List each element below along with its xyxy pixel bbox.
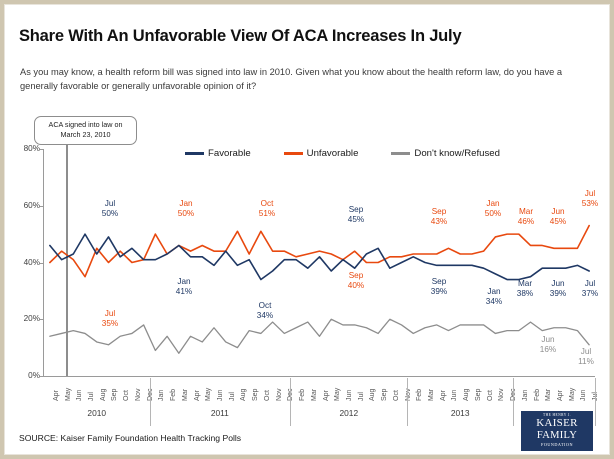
data-label-value: 51% bbox=[259, 209, 275, 219]
series-line-favorable bbox=[50, 234, 589, 279]
data-label: Sep40% bbox=[348, 271, 364, 291]
x-tick-label: Aug bbox=[369, 389, 376, 401]
data-label-month: Jul bbox=[582, 189, 598, 199]
data-label-value: 50% bbox=[178, 209, 194, 219]
data-label: Oct51% bbox=[259, 199, 275, 219]
x-tick-label: Nov bbox=[276, 389, 283, 401]
data-label-month: Jul bbox=[582, 279, 598, 289]
y-axis-labels: 0%20%40%60%80% bbox=[6, 149, 40, 376]
logo-line-3: FAMILY bbox=[521, 430, 593, 441]
series-line-unfavorable bbox=[50, 226, 589, 277]
x-tick-label: Apr bbox=[194, 390, 201, 401]
data-label: Jul53% bbox=[582, 189, 598, 209]
logo-line-2: KAISER bbox=[521, 418, 593, 430]
y-tick-label: 80% bbox=[6, 144, 40, 153]
data-label-month: Mar bbox=[517, 279, 533, 289]
data-label: Sep39% bbox=[431, 277, 447, 297]
x-tick-label: Sep bbox=[111, 389, 118, 401]
x-tick-label: Jul bbox=[358, 392, 365, 401]
data-label: Jul35% bbox=[102, 309, 118, 329]
x-tick-label: Jan bbox=[522, 390, 529, 401]
x-tick-label: May bbox=[205, 388, 212, 401]
y-tick-mark bbox=[40, 376, 44, 377]
source-note: SOURCE: Kaiser Family Foundation Health … bbox=[19, 433, 241, 443]
page-title: Share With An Unfavorable View Of ACA In… bbox=[19, 27, 461, 46]
series-line-don-t-know-refused bbox=[50, 319, 589, 353]
x-tick-label: Feb bbox=[416, 389, 423, 401]
logo-line-4: FOUNDATION bbox=[521, 441, 593, 448]
x-tick-label: Sep bbox=[381, 389, 388, 401]
x-tick-label: Jun bbox=[346, 390, 353, 401]
year-separator bbox=[407, 378, 408, 426]
x-tick-label: Jul bbox=[88, 392, 95, 401]
x-tick-label: Nov bbox=[135, 389, 142, 401]
data-label-value: 43% bbox=[431, 217, 447, 227]
callout-line-1: ACA signed into law bbox=[49, 120, 113, 129]
data-label: Jan41% bbox=[176, 277, 192, 297]
x-tick-label: Oct bbox=[487, 390, 494, 401]
data-label-month: Sep bbox=[431, 277, 447, 287]
chart-page: Share With An Unfavorable View Of ACA In… bbox=[4, 4, 610, 455]
chart-plot-area: 0%20%40%60%80% ACA signed into law on Ma… bbox=[44, 149, 595, 376]
x-tick-label: Jun bbox=[217, 390, 224, 401]
data-label-value: 45% bbox=[550, 217, 566, 227]
x-tick-label: May bbox=[65, 388, 72, 401]
x-tick-label: Jul bbox=[229, 392, 236, 401]
x-tick-label: May bbox=[334, 388, 341, 401]
series-lines bbox=[44, 149, 595, 376]
data-label: Jan50% bbox=[178, 199, 194, 219]
x-tick-label: Mar bbox=[182, 389, 189, 401]
x-tick-label: Jun bbox=[580, 390, 587, 401]
x-tick-label: Feb bbox=[170, 389, 177, 401]
y-tick-label: 40% bbox=[6, 258, 40, 267]
data-label-value: 35% bbox=[102, 319, 118, 329]
x-tick-label: Apr bbox=[557, 390, 564, 401]
data-label-month: Jan bbox=[176, 277, 192, 287]
x-axis-year-label: 2010 bbox=[77, 408, 117, 418]
x-axis-year-label: 2013 bbox=[440, 408, 480, 418]
x-tick-label: Aug bbox=[100, 389, 107, 401]
data-label-value: 11% bbox=[578, 357, 594, 367]
x-tick-label: Aug bbox=[240, 389, 247, 401]
x-tick-label: Mar bbox=[311, 389, 318, 401]
x-tick-label: Jun bbox=[451, 390, 458, 401]
data-label-value: 45% bbox=[348, 215, 364, 225]
data-label: Sep45% bbox=[348, 205, 364, 225]
x-tick-label: Mar bbox=[545, 389, 552, 401]
data-label-value: 37% bbox=[582, 289, 598, 299]
x-tick-label: Apr bbox=[440, 390, 447, 401]
year-separator bbox=[513, 378, 514, 426]
y-tick-label: 20% bbox=[6, 314, 40, 323]
data-label-value: 50% bbox=[485, 209, 501, 219]
x-tick-label: Feb bbox=[534, 389, 541, 401]
x-axis-year-label: 2012 bbox=[329, 408, 369, 418]
data-label-month: Jun bbox=[540, 335, 556, 345]
data-label-value: 34% bbox=[486, 297, 502, 307]
data-label-month: Sep bbox=[431, 207, 447, 217]
data-label-month: Sep bbox=[348, 205, 364, 215]
data-label-value: 50% bbox=[102, 209, 118, 219]
data-label: Jun45% bbox=[550, 207, 566, 227]
data-label: Jul11% bbox=[578, 347, 594, 367]
data-label-month: Jan bbox=[486, 287, 502, 297]
data-label-value: 38% bbox=[517, 289, 533, 299]
data-label: Mar38% bbox=[517, 279, 533, 299]
data-label-value: 41% bbox=[176, 287, 192, 297]
data-label-value: 39% bbox=[431, 287, 447, 297]
x-tick-label: Apr bbox=[323, 390, 330, 401]
data-label-month: Oct bbox=[259, 199, 275, 209]
data-label: Jun16% bbox=[540, 335, 556, 355]
x-tick-label: Apr bbox=[53, 390, 60, 401]
x-tick-label: Oct bbox=[123, 390, 130, 401]
x-tick-label: Sep bbox=[252, 389, 259, 401]
x-tick-label: Nov bbox=[498, 389, 505, 401]
kaiser-family-foundation-logo: THE HENRY J. KAISER FAMILY FOUNDATION bbox=[520, 410, 594, 452]
x-tick-label: Jan bbox=[158, 390, 165, 401]
x-axis-line bbox=[43, 376, 595, 377]
y-tick-label: 60% bbox=[6, 201, 40, 210]
data-label-month: Jun bbox=[550, 279, 566, 289]
data-label: Mar46% bbox=[518, 207, 534, 227]
data-label-month: Oct bbox=[257, 301, 273, 311]
data-label: Jun39% bbox=[550, 279, 566, 299]
data-label: Oct34% bbox=[257, 301, 273, 321]
x-tick-label: Sep bbox=[475, 389, 482, 401]
y-tick-label: 0% bbox=[6, 371, 40, 380]
x-tick-label: Oct bbox=[264, 390, 271, 401]
data-label-value: 53% bbox=[582, 199, 598, 209]
data-label-value: 39% bbox=[550, 289, 566, 299]
data-label-month: Jan bbox=[178, 199, 194, 209]
data-label: Sep43% bbox=[431, 207, 447, 227]
x-tick-label: Aug bbox=[463, 389, 470, 401]
data-label-value: 40% bbox=[348, 281, 364, 291]
data-label-value: 46% bbox=[518, 217, 534, 227]
data-label-month: Sep bbox=[348, 271, 364, 281]
data-label: Jul37% bbox=[582, 279, 598, 299]
data-label-month: Jul bbox=[578, 347, 594, 357]
x-tick-label: Oct bbox=[393, 390, 400, 401]
data-label: Jul50% bbox=[102, 199, 118, 219]
chart-subtitle: As you may know, a health reform bill wa… bbox=[20, 66, 580, 93]
x-tick-label: May bbox=[569, 388, 576, 401]
data-label-month: Jan bbox=[485, 199, 501, 209]
data-label-month: Mar bbox=[518, 207, 534, 217]
year-separator bbox=[595, 378, 596, 426]
year-separator bbox=[150, 378, 151, 426]
x-tick-label: Mar bbox=[428, 389, 435, 401]
data-label: Jan50% bbox=[485, 199, 501, 219]
x-tick-label: Feb bbox=[299, 389, 306, 401]
data-label-month: Jul bbox=[102, 309, 118, 319]
aca-callout-box: ACA signed into law on March 23, 2010 bbox=[34, 116, 137, 145]
x-axis-year-labels: 20102011201220132014 bbox=[44, 406, 595, 426]
x-axis-year-label: 2011 bbox=[200, 408, 240, 418]
x-tick-label: Jun bbox=[76, 390, 83, 401]
data-label-value: 34% bbox=[257, 311, 273, 321]
data-label-month: Jul bbox=[102, 199, 118, 209]
data-label: Jan34% bbox=[486, 287, 502, 307]
data-label-value: 16% bbox=[540, 345, 556, 355]
data-label-month: Jun bbox=[550, 207, 566, 217]
year-separator bbox=[290, 378, 291, 426]
